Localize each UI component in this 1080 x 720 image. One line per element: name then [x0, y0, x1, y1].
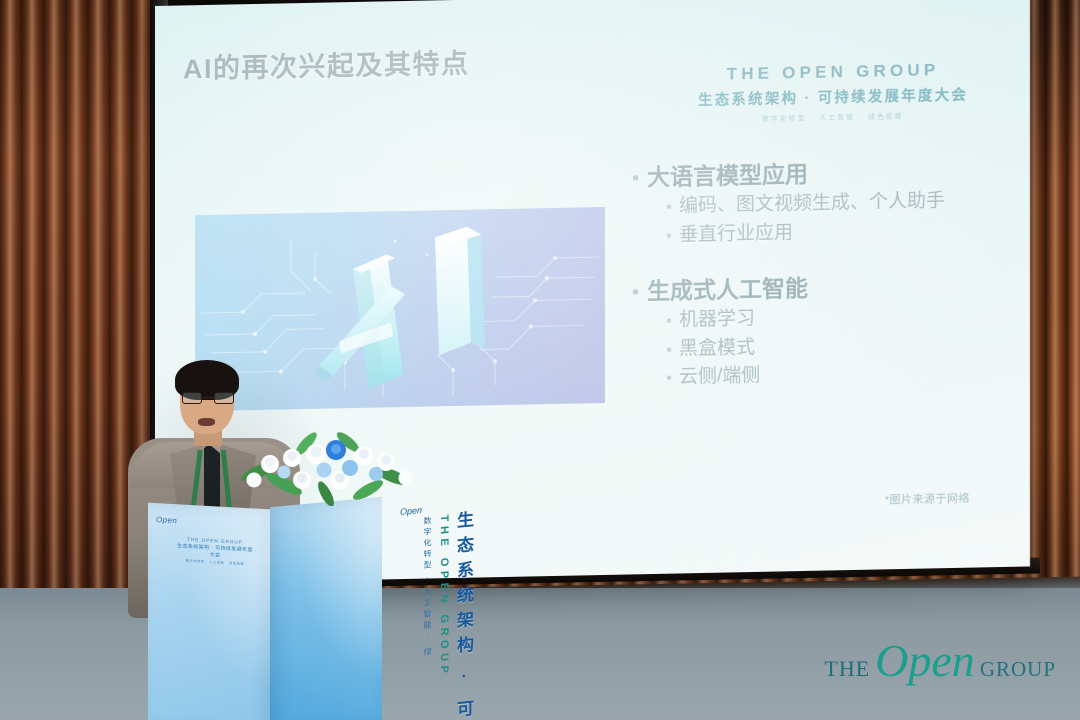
bullet-dot-icon: [667, 376, 671, 380]
bullet-level2-text: 云侧/端侧: [679, 362, 760, 392]
bullet-level2: 云侧/端侧: [667, 357, 993, 392]
bullet-level2-text: 黑盒模式: [679, 334, 755, 364]
bullet-level1-text: 生成式人工智能: [647, 273, 808, 307]
glasses-icon: [182, 392, 234, 404]
bullet-dot-icon: [667, 233, 671, 237]
speaker-mouth: [198, 418, 215, 426]
ai-3d-letters-icon: [295, 222, 505, 396]
podium-swoosh: [148, 503, 270, 720]
watermark-open: Open: [875, 643, 975, 680]
logo-line-sub: 数字化转型 · 人工智能 · 绿色低碳: [698, 109, 968, 124]
podium-vertical-text: 生态系统架构 · 可持续发展 THE OPEN GROUP 数字化转型 · 人工…: [422, 510, 472, 720]
podium-logo-right: Open: [400, 505, 422, 517]
podium-vertical-sub: 数字化转型 · 人工智能 · 绿: [422, 516, 433, 659]
podium-logo-left: Open: [156, 515, 177, 525]
bullet-dot-icon: [633, 175, 638, 180]
logo-line-cn: 生态系统架构 · 可持续发展年度大会: [698, 84, 968, 110]
podium-vertical-en: THE OPEN GROUP: [438, 514, 450, 678]
podium-swoosh: [270, 497, 382, 720]
bullet-group-1: 大语言模型应用 编码、图文视频生成、个人助手 垂直行业应用: [633, 155, 993, 250]
bullet-group-2: 生成式人工智能 机器学习 黑盒模式 云侧/端侧: [633, 269, 993, 393]
slide-image-ai-artwork: [195, 207, 605, 411]
slide-title: AI的再次兴起及其特点: [183, 42, 470, 87]
bullet-dot-icon: [633, 289, 638, 294]
podium-panel-left: Open THE OPEN GROUP 生态系统架构 · 可持续发展年度大会 数…: [148, 503, 270, 720]
bullet-level2-text: 编码、图文视频生成、个人助手: [679, 187, 945, 221]
watermark-group: GROUP: [980, 657, 1056, 682]
bullet-level1-text: 大语言模型应用: [647, 159, 808, 193]
podium-vertical-cn: 生态系统架构 · 可持续发展: [455, 510, 472, 720]
slide-bullet-list: 大语言模型应用 编码、图文视频生成、个人助手 垂直行业应用 生成式人工智能: [633, 155, 993, 419]
logo-line-en: THE OPEN GROUP: [698, 60, 968, 85]
conference-logo: THE OPEN GROUP 生态系统架构 · 可持续发展年度大会 数字化转型 …: [698, 60, 968, 124]
watermark-the: THE: [824, 656, 870, 682]
podium-panel-right: Open 生态系统架构 · 可持续发展 THE OPEN GROUP 数字化转型…: [270, 497, 382, 720]
slide-footnote: *图片来源于网络: [885, 490, 970, 508]
bullet-level2: 垂直行业应用: [667, 215, 993, 250]
bullet-dot-icon: [667, 347, 671, 351]
photo-scene: AI的再次兴起及其特点 THE OPEN GROUP 生态系统架构 · 可持续发…: [0, 0, 1080, 720]
bullet-level2-text: 机器学习: [679, 305, 755, 335]
bullet-level2-text: 垂直行业应用: [679, 219, 793, 250]
watermark-open-group: THE Open GROUP: [824, 643, 1056, 682]
podium-text-block: THE OPEN GROUP 生态系统架构 · 可持续发展年度大会 数字化转型 …: [176, 536, 254, 567]
bullet-dot-icon: [667, 205, 671, 209]
bullet-dot-icon: [667, 319, 671, 323]
flower-arrangement: [240, 428, 420, 506]
